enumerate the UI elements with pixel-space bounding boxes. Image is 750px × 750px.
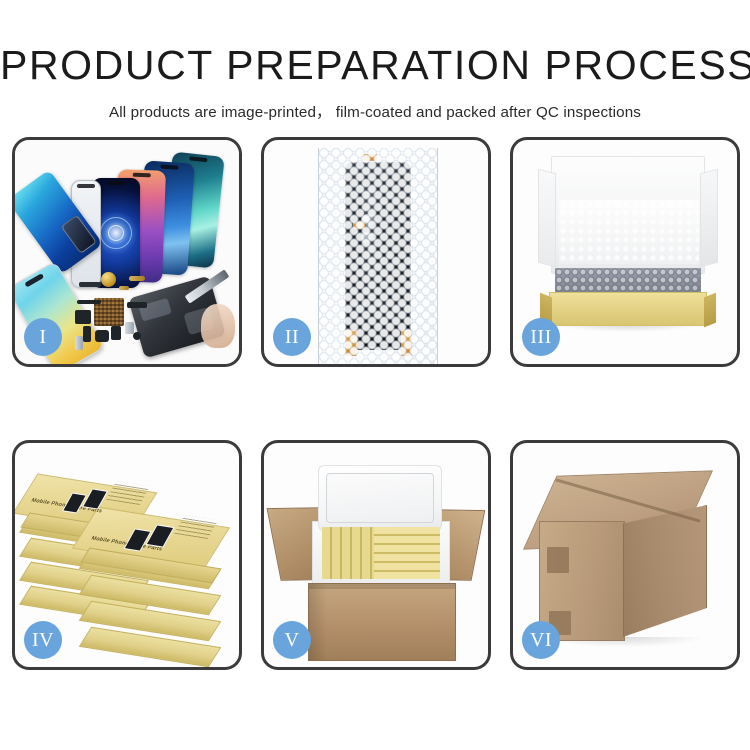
step-panel-1[interactable]: I [12,137,242,367]
part-speaker [95,330,109,342]
product-preparation-infographic: PRODUCT PREPARATION PROCESS All products… [0,0,750,750]
page-title: PRODUCT PREPARATION PROCESS [0,45,750,86]
part-button [133,332,141,340]
page-subtitle: All products are image-printed， film-coa… [0,100,750,122]
step-panel-6[interactable]: VI [510,440,740,670]
step-badge-3: III [522,318,560,356]
step-panel-4[interactable]: Mobile Phone Spare Parts Mobile Phone Sp… [12,440,242,670]
step-3-illustration: III [513,140,737,364]
white-foam-sheet [559,200,699,264]
step-badge-1: I [24,318,62,356]
step-panel-2[interactable]: II [261,137,491,367]
process-steps-grid: I II [12,137,740,677]
part-strip-1 [79,282,101,287]
part-battery-small [75,336,83,350]
step-1-illustration: I [15,140,239,364]
kraft-box-front [549,292,707,326]
step-5-illustration: V [264,443,488,667]
hand-holding-housing [201,304,235,348]
step-panel-5[interactable]: V [261,440,491,670]
yellow-boxes-inside [322,527,440,579]
carton-tape-upper [547,547,569,573]
header: PRODUCT PREPARATION PROCESS All products… [0,0,750,122]
gold-coil-part [101,272,116,287]
part-camera-module [111,326,121,340]
bubble-texture [319,148,437,364]
carton-right-face [623,505,707,637]
bubble-wrap-bag [318,148,438,364]
step-panel-3[interactable]: III [510,137,740,367]
part-bracket-2 [83,326,91,342]
part-strip-2 [77,300,101,304]
part-metal-shield [125,322,134,334]
part-bracket-1 [75,310,91,324]
part-connector-1 [127,302,147,308]
carton-body [308,583,456,661]
part-gold-flex [129,276,145,281]
step-badge-2: II [273,318,311,356]
part-gold-small [119,286,129,290]
step-badge-5: V [273,621,311,659]
styrofoam-lid [318,465,442,531]
step-badge-4: IV [24,621,62,659]
step-6-illustration: VI [513,443,737,667]
step-badge-6: VI [522,621,560,659]
step-2-illustration: II [264,140,488,364]
step-4-illustration: Mobile Phone Spare Parts Mobile Phone Sp… [15,443,239,667]
